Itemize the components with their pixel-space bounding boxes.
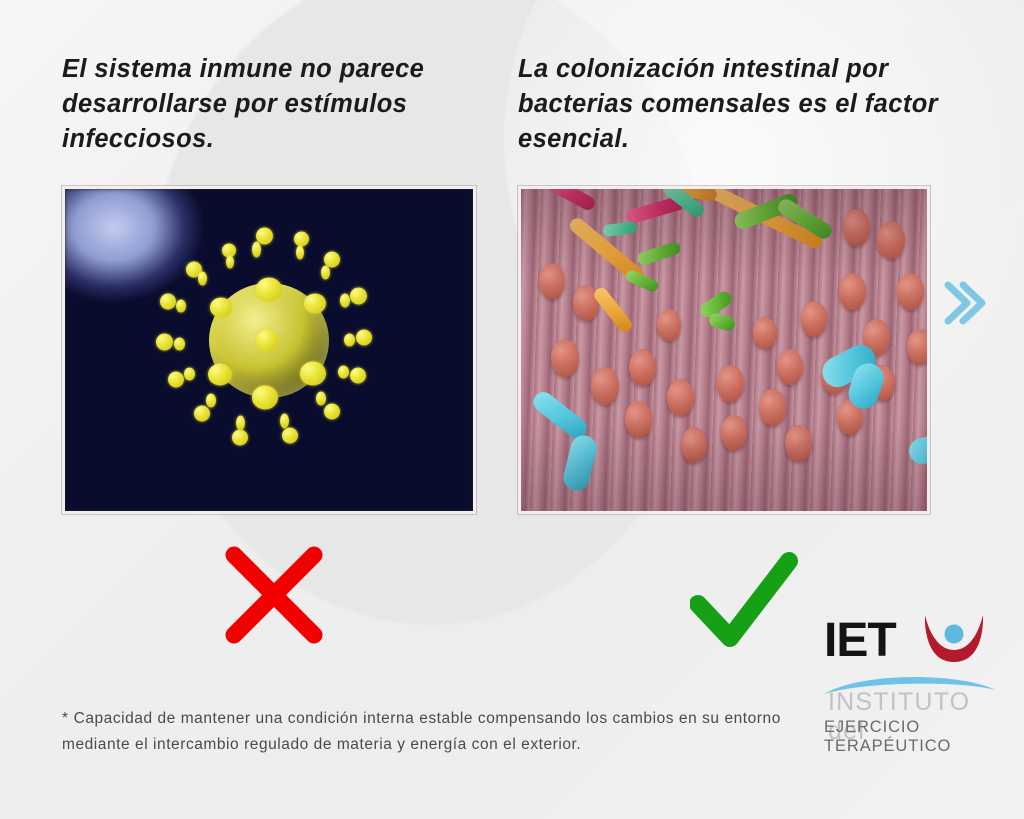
virus-particle	[164, 238, 374, 443]
check-icon	[690, 552, 798, 648]
virus-illustration	[65, 189, 473, 511]
footnote: *Capacidad de mantener una condición int…	[62, 680, 782, 758]
double-chevron-right-icon[interactable]	[940, 275, 986, 331]
right-column-heading: La colonización intestinal por bacterias…	[518, 52, 948, 157]
iet-logo: IET INSTITUTO del EJERCICIO TERAPÉUTICO	[822, 614, 1002, 754]
footnote-marker: *	[62, 710, 69, 727]
logo-wordmark: IET	[824, 616, 896, 666]
left-column-heading: El sistema inmune no parece desarrollars…	[62, 52, 482, 157]
gut-depth-shading	[521, 189, 927, 511]
footnote-text: Capacidad de mantener una condición inte…	[62, 710, 781, 753]
slide-root: El sistema inmune no parece desarrollars…	[0, 0, 1024, 819]
gut-microbiota-illustration	[521, 189, 927, 511]
right-column-image	[518, 186, 930, 514]
cross-icon	[222, 543, 326, 647]
logo-line2: EJERCICIO TERAPÉUTICO	[824, 718, 1002, 756]
left-column-image	[62, 186, 476, 514]
